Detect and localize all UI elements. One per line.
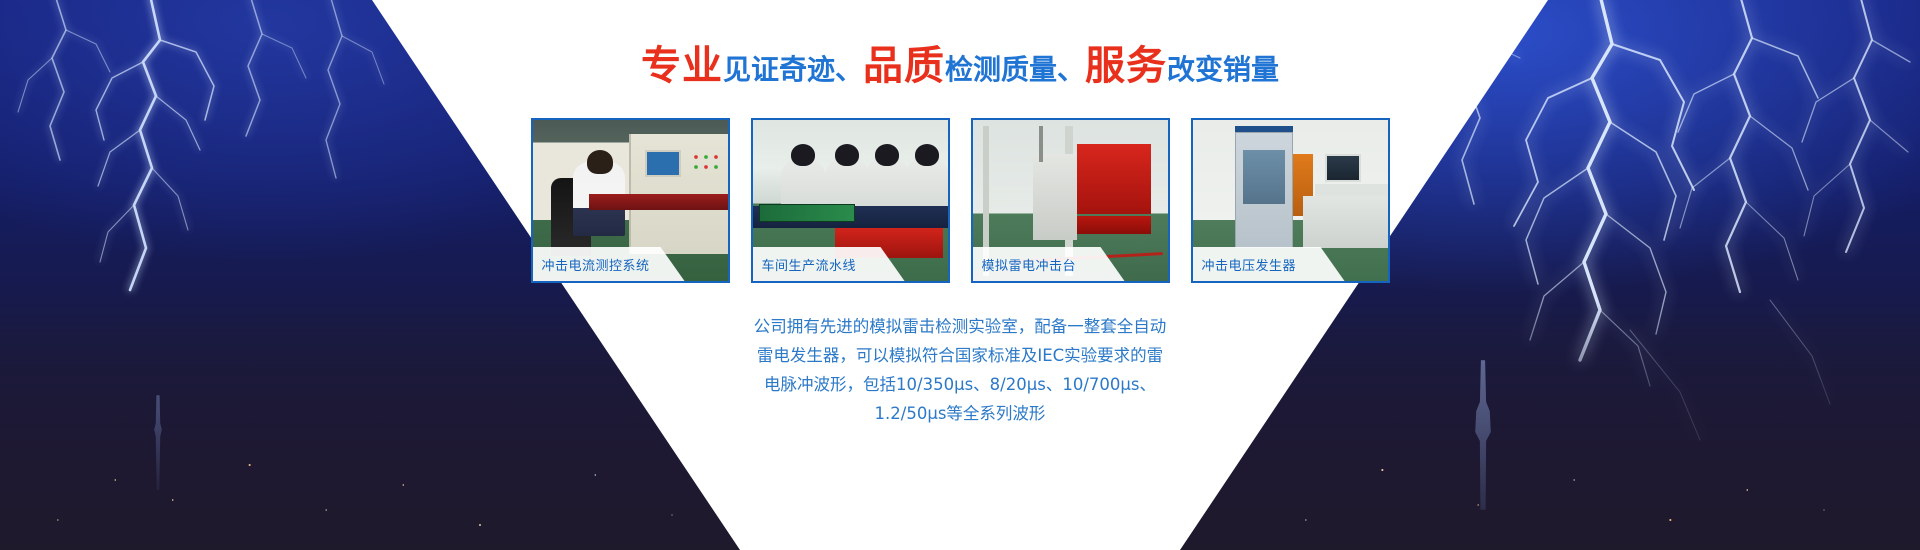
page-title: 专业见证奇迹、品质检测质量、服务改变销量 [0, 46, 1920, 86]
photo-caption-ribbon: 模拟雷电冲击台 [973, 247, 1125, 281]
photo-caption-label: 车间生产流水线 [753, 255, 857, 274]
photo-card[interactable]: 车间生产流水线 [751, 118, 950, 283]
headline-segment-3: 品质 [863, 44, 945, 88]
photo-caption-ribbon: 冲击电压发生器 [1193, 247, 1345, 281]
photo-caption-ribbon: 车间生产流水线 [753, 247, 905, 281]
headline-segment-5: 服务 [1085, 44, 1167, 88]
photo-caption-ribbon: 冲击电流测控系统 [533, 247, 685, 281]
headline-segment-6: 改变销量 [1167, 54, 1279, 85]
headline-segment-2: 见证奇迹、 [723, 54, 863, 85]
description-text: 公司拥有先进的模拟雷击检测实验室，配备一整套全自动 雷电发生器，可以模拟符合国家… [0, 312, 1920, 428]
photo-caption-label: 模拟雷电冲击台 [973, 255, 1077, 274]
photo-caption-label: 冲击电流测控系统 [533, 255, 650, 274]
photo-card-row: 冲击电流测控系统 车间生产流水线 [0, 118, 1920, 283]
headline-segment-4: 检测质量、 [945, 54, 1085, 85]
description-line: 电脉冲波形，包括10/350μs、8/20μs、10/700μs、 [0, 370, 1920, 399]
description-line: 1.2/50μs等全系列波形 [0, 399, 1920, 428]
banner-content: 专业见证奇迹、品质检测质量、服务改变销量 冲击电流测控系统 [0, 0, 1920, 550]
photo-card[interactable]: 冲击电流测控系统 [531, 118, 730, 283]
description-line: 雷电发生器，可以模拟符合国家标准及IEC实验要求的雷 [0, 341, 1920, 370]
photo-card[interactable]: 冲击电压发生器 [1191, 118, 1390, 283]
promo-banner: 专业见证奇迹、品质检测质量、服务改变销量 冲击电流测控系统 [0, 0, 1920, 550]
headline-segment-1: 专业 [641, 44, 723, 88]
photo-card[interactable]: 模拟雷电冲击台 [971, 118, 1170, 283]
photo-caption-label: 冲击电压发生器 [1193, 255, 1297, 274]
description-line: 公司拥有先进的模拟雷击检测实验室，配备一整套全自动 [0, 312, 1920, 341]
